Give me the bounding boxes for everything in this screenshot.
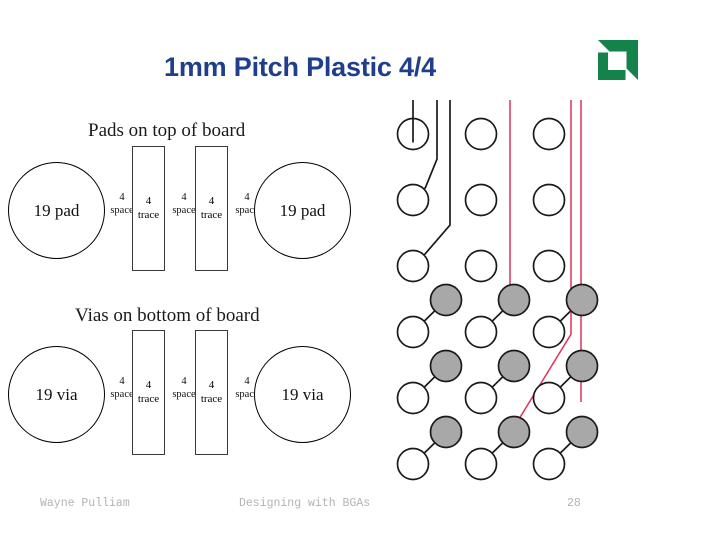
pad-space-1-word: space: [110, 205, 133, 216]
slide-canvas: 1mm Pitch Plastic 4/4 Pads on top of boa…: [0, 0, 705, 548]
bga-pad: [398, 317, 429, 348]
bga-pad: [534, 251, 565, 282]
bga-via: [567, 285, 598, 316]
via-circle-right: 19 via: [254, 346, 351, 443]
bga-pad: [534, 317, 565, 348]
bga-pad: [466, 185, 497, 216]
pad-circle-right: 19 pad: [254, 162, 351, 259]
via-trace-1-num: 4: [146, 379, 152, 393]
bga-pad: [466, 119, 497, 150]
bga-pad: [398, 449, 429, 480]
bga-pad: [398, 251, 429, 282]
bga-via: [567, 351, 598, 382]
footer-author: Wayne Pulliam: [40, 497, 130, 510]
via-space-1-word: space: [110, 389, 133, 400]
pad-trace-2-word: trace: [201, 209, 222, 223]
vias-diagram-caption: Vias on bottom of board: [75, 305, 260, 327]
via-trace-2-word: trace: [201, 393, 222, 407]
slide-footer: Wayne Pulliam Designing with BGAs 28: [0, 497, 705, 519]
pad-trace-1-num: 4: [146, 195, 152, 209]
bga-pad: [534, 185, 565, 216]
bga-pad: [534, 119, 565, 150]
bga-via: [431, 351, 462, 382]
bga-via: [431, 285, 462, 316]
bga-pad: [466, 383, 497, 414]
bga-via-layer: [431, 285, 598, 448]
via-trace-rect-1: 4 trace: [132, 330, 165, 455]
bga-pad: [534, 383, 565, 414]
bga-trace-layer: [402, 100, 593, 475]
bga-escape-routing-diagram: [380, 100, 615, 495]
pad-circle-left: 19 pad: [8, 162, 105, 259]
footer-topic: Designing with BGAs: [239, 497, 370, 510]
via-trace-rect-2: 4 trace: [195, 330, 228, 455]
bga-pad: [534, 449, 565, 480]
pads-diagram-caption: Pads on top of board: [88, 120, 245, 142]
pad-trace-rect-1: 4 trace: [132, 146, 165, 271]
bga-via: [567, 417, 598, 448]
bga-pad: [466, 251, 497, 282]
bga-pad: [398, 383, 429, 414]
via-trace-1-word: trace: [138, 393, 159, 407]
pad-trace-2-num: 4: [209, 195, 215, 209]
via-circle-left: 19 via: [8, 346, 105, 443]
pad-trace-rect-2: 4 trace: [195, 146, 228, 271]
amd-logo: [596, 38, 640, 82]
bga-via: [499, 417, 530, 448]
footer-page-number: 28: [567, 497, 581, 510]
bga-pad: [398, 185, 429, 216]
bga-via: [499, 351, 530, 382]
bga-pad-layer: [398, 119, 565, 480]
page-title: 1mm Pitch Plastic 4/4: [0, 52, 600, 83]
via-space-2-word: space: [172, 389, 195, 400]
bga-pad: [466, 317, 497, 348]
bga-pad: [466, 449, 497, 480]
pad-space-2-word: space: [172, 205, 195, 216]
pad-trace-1-word: trace: [138, 209, 159, 223]
bga-via: [499, 285, 530, 316]
bga-via: [431, 417, 462, 448]
via-trace-2-num: 4: [209, 379, 215, 393]
